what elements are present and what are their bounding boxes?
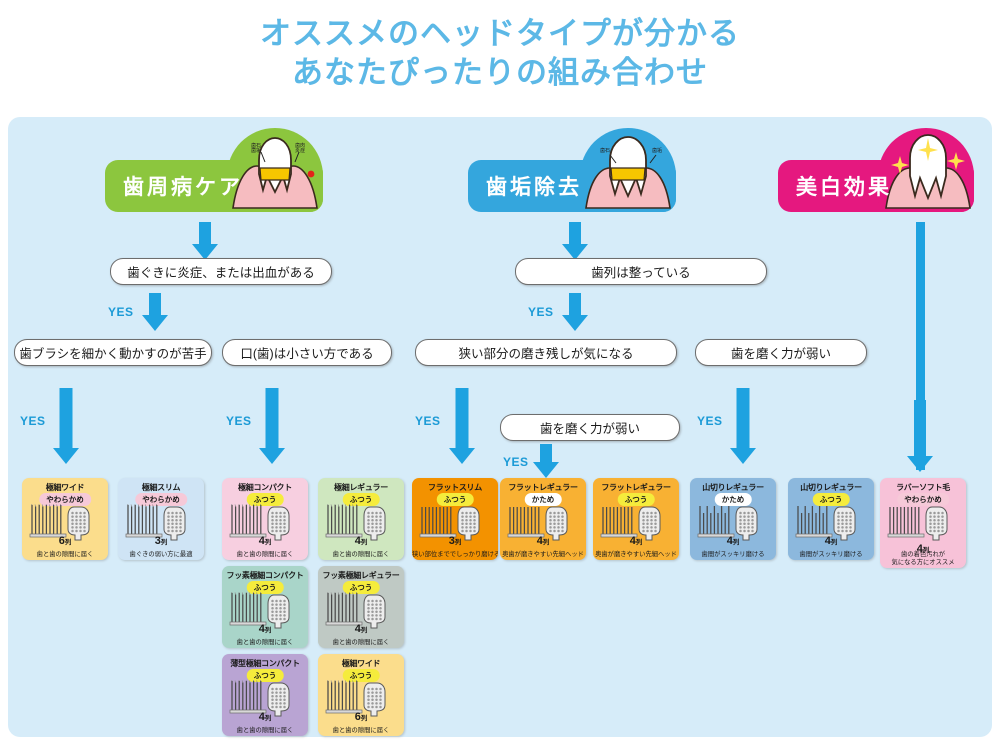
product-card[interactable]: フラットレギュラーかため 4列奥歯が磨きやすい先細ヘッド (500, 478, 586, 560)
product-description: 奥歯が磨きやすい先細ヘッド (500, 551, 586, 559)
product-name: フラットレギュラー (500, 482, 586, 493)
product-name: 極細スリム (118, 482, 204, 493)
category-perio-care[interactable]: 歯石歯垢 歯肉炎症 歯周病ケア (105, 160, 323, 212)
page-title: オススメのヘッドタイプが分かる あなたぴったりの組み合わせ (0, 14, 1000, 92)
product-card[interactable]: フラットスリムふつう 3列狭い部位まででしっかり磨ける (412, 478, 498, 560)
product-row-count: 4列 (500, 535, 586, 547)
product-description: 歯と歯の隙間に届く (22, 551, 108, 559)
title-line-1: オススメのヘッドタイプが分かる (0, 14, 1000, 53)
product-name: フッ素極細コンパクト (222, 570, 308, 581)
product-card[interactable]: 極細スリムやわらかめ 3列歯ぐきの弱い方に最適 (118, 478, 204, 560)
question-text: 歯を磨く力が弱い (731, 343, 831, 362)
svg-text:歯肉炎症: 歯肉炎症 (295, 142, 305, 154)
product-name: ラバーソフト毛 (880, 482, 966, 493)
arrow-perio-to-q1 (190, 222, 220, 260)
yes-label-q6: YES (697, 414, 723, 428)
product-card[interactable]: 山切りレギュラーかため 4列歯間がスッキリ磨ける (690, 478, 776, 560)
product-row-count: 4列 (788, 535, 874, 547)
product-name: 山切りレギュラー (690, 482, 776, 493)
product-row-count: 4列 (318, 535, 404, 547)
product-description: 歯と歯の隙間に届く (222, 639, 308, 647)
product-name: 極細コンパクト (222, 482, 308, 493)
question-q7[interactable]: 歯を磨く力が弱い (500, 414, 680, 441)
yes-label-q7: YES (503, 455, 529, 469)
yes-label-q2: YES (528, 305, 554, 319)
product-row-count: 3列 (412, 535, 498, 547)
product-card[interactable]: 山切りレギュラーふつう 4列歯間がスッキリ磨ける (788, 478, 874, 560)
yes-label-q4: YES (226, 414, 252, 428)
product-card[interactable]: 極細ワイドやわらかめ 6列歯と歯の隙間に届く (22, 478, 108, 560)
product-row-count: 4列 (593, 535, 679, 547)
product-row-count: 6列 (318, 711, 404, 723)
yes-label-q1: YES (108, 305, 134, 319)
question-q1[interactable]: 歯ぐきに炎症、または出血がある (110, 258, 332, 285)
product-description: 歯と歯の隙間に届く (318, 551, 404, 559)
question-q5[interactable]: 狭い部分の磨き残しが気になる (415, 339, 677, 366)
arrow-q6-yes (727, 388, 759, 464)
yes-label-q5: YES (415, 414, 441, 428)
category-label: 美白効果 (778, 160, 892, 212)
product-card[interactable]: フッ素極細コンパクトふつう 4列歯と歯の隙間に届く (222, 566, 308, 648)
product-description: 歯の着色汚れが気になる方にオススメ (880, 551, 966, 566)
arrow-whitening-to-product (905, 400, 935, 472)
arrow-q1-yes (140, 293, 170, 331)
arrow-q2-yes (560, 293, 590, 331)
question-text: 歯ブラシを細かく動かすのが苦手 (19, 343, 206, 362)
brush-head-icon (886, 504, 960, 542)
question-text: 歯列は整っている (591, 262, 690, 281)
product-card[interactable]: フラットレギュラーふつう 4列奥歯が磨きやすい先細ヘッド (593, 478, 679, 560)
product-card[interactable]: フッ素極細レギュラーふつう 4列歯と歯の隙間に届く (318, 566, 404, 648)
arrow-q5-yes (446, 388, 478, 464)
product-name: フッ素極細レギュラー (318, 570, 404, 581)
question-q4[interactable]: 口(歯)は小さい方である (222, 339, 392, 366)
category-label: 歯垢除去 (468, 160, 582, 212)
product-description: 歯と歯の隙間に届く (222, 551, 308, 559)
product-description: 歯ぐきの弱い方に最適 (118, 551, 204, 559)
product-row-count: 6列 (22, 535, 108, 547)
question-text: 狭い部分の磨き残しが気になる (458, 343, 633, 362)
yes-label-q3: YES (20, 414, 46, 428)
arrow-q3-yes (50, 388, 82, 464)
product-row-count: 4列 (222, 711, 308, 723)
product-description: 奥歯が磨きやすい先細ヘッド (593, 551, 679, 559)
product-row-count: 4列 (318, 623, 404, 635)
category-whitening[interactable]: 美白効果 (778, 160, 974, 212)
product-card[interactable]: 極細コンパクトふつう 4列歯と歯の隙間に届く (222, 478, 308, 560)
product-name: 極細ワイド (22, 482, 108, 493)
product-description: 歯と歯の隙間に届く (318, 639, 404, 647)
question-text: 歯を磨く力が弱い (540, 418, 640, 437)
tooth-sparkle-icon (880, 130, 972, 212)
product-name: フラットレギュラー (593, 482, 679, 493)
arrow-q7-yes (531, 444, 561, 478)
product-description: 歯間がスッキリ磨ける (690, 551, 776, 559)
product-card[interactable]: ラバーソフト毛やわらかめ 4列歯の着色汚れが気になる方にオススメ (880, 478, 966, 568)
product-row-count: 4列 (222, 535, 308, 547)
product-row-count: 3列 (118, 535, 204, 547)
category-label: 歯周病ケア (105, 160, 243, 212)
product-description: 歯と歯の隙間に届く (222, 727, 308, 735)
arrow-q4-yes (256, 388, 288, 464)
question-text: 口(歯)は小さい方である (240, 343, 373, 362)
product-name: 山切りレギュラー (788, 482, 874, 493)
svg-text:歯石: 歯石 (600, 147, 610, 154)
product-card[interactable]: 薄型極細コンパクトふつう 4列歯と歯の隙間に届く (222, 654, 308, 736)
question-text: 歯ぐきに炎症、または出血がある (127, 262, 315, 281)
product-row-count: 4列 (690, 535, 776, 547)
product-name: 薄型極細コンパクト (222, 658, 308, 669)
question-q2[interactable]: 歯列は整っている (515, 258, 767, 285)
tooth-gum-icon: 歯石 歯垢 (582, 130, 674, 212)
svg-text:歯垢: 歯垢 (652, 147, 662, 154)
category-plaque-removal[interactable]: 歯石 歯垢 歯垢除去 (468, 160, 676, 212)
question-q3[interactable]: 歯ブラシを細かく動かすのが苦手 (14, 339, 212, 366)
product-description: 歯と歯の隙間に届く (318, 727, 404, 735)
product-description: 狭い部位まででしっかり磨ける (412, 551, 498, 559)
product-row-count: 4列 (222, 623, 308, 635)
product-name: 極細レギュラー (318, 482, 404, 493)
svg-text:歯石歯垢: 歯石歯垢 (251, 142, 261, 154)
product-name: 極細ワイド (318, 658, 404, 669)
product-card[interactable]: 極細ワイドふつう 6列歯と歯の隙間に届く (318, 654, 404, 736)
product-name: フラットスリム (412, 482, 498, 493)
question-q6[interactable]: 歯を磨く力が弱い (695, 339, 867, 366)
title-line-2: あなたぴったりの組み合わせ (0, 53, 1000, 92)
arrow-plaque-to-q2 (560, 222, 590, 260)
product-description: 歯間がスッキリ磨ける (788, 551, 874, 559)
product-card[interactable]: 極細レギュラーふつう 4列歯と歯の隙間に届く (318, 478, 404, 560)
